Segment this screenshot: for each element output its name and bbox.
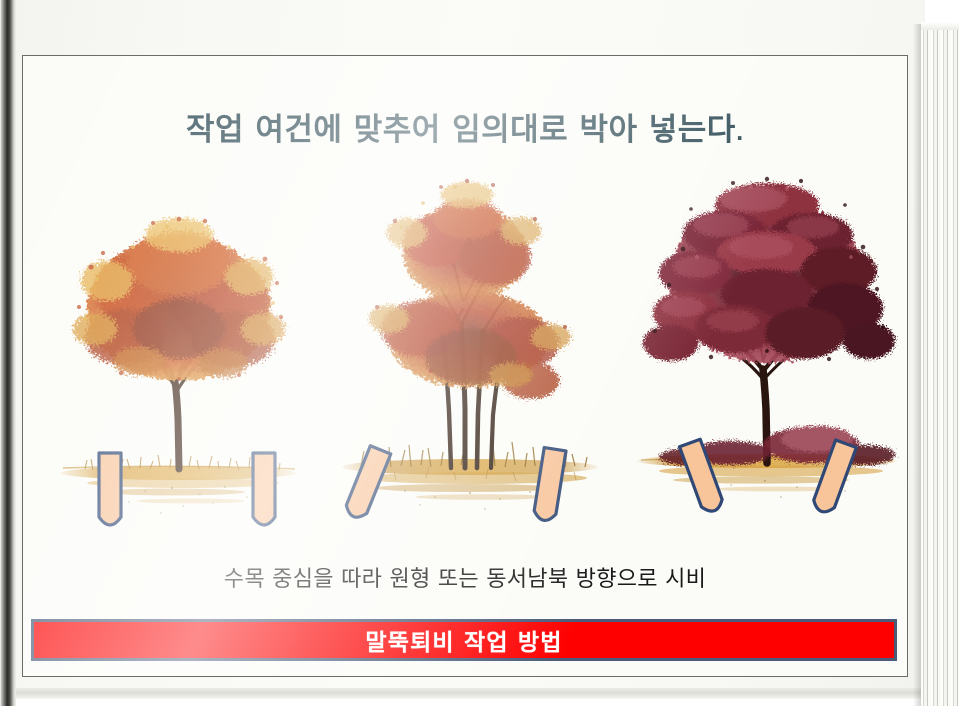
page-title-text: 작업 여건에 맞추어 임의대로 박아 넣는다 (186, 112, 736, 148)
tree-panel-middle (325, 161, 615, 561)
page-title-period: . (736, 121, 744, 145)
slide-frame: 작업 여건에 맞추어 임의대로 박아 넣는다. (22, 55, 908, 677)
ground-speckles-middle (404, 490, 551, 510)
compost-stake-1 (99, 453, 121, 525)
title-banner-text: 말뚝퇴비 작업 방법 (365, 623, 562, 657)
illustration-band (29, 161, 903, 561)
illustration-caption: 수목 중심을 따라 원형 또는 동서남북 방향으로 시비 (23, 561, 907, 593)
title-banner: 말뚝퇴비 작업 방법 (31, 619, 897, 661)
tree-foliage-middle (369, 179, 571, 399)
tree-foliage-right (643, 177, 895, 363)
compost-stake-2 (533, 448, 566, 523)
compost-stake-1 (343, 446, 390, 521)
compost-stake-2 (253, 453, 275, 525)
tree-foliage-left (73, 217, 285, 381)
stake-group-middle (343, 446, 566, 522)
cloud-pruned-maroon-tree-illustration (625, 161, 910, 561)
tree-panel-left (33, 161, 323, 561)
single-stem-autumn-tree-illustration (33, 161, 323, 561)
multi-stem-clump-tree-illustration (325, 161, 615, 561)
page-stack-edge (921, 30, 959, 706)
page-bottom-edge (13, 688, 925, 699)
scanned-page-canvas: 작업 여건에 맞추어 임의대로 박아 넣는다. (0, 0, 960, 720)
book-gutter-shadow (0, 0, 16, 706)
page-title: 작업 여건에 맞추어 임의대로 박아 넣는다. (23, 104, 907, 149)
tree-panel-right (625, 161, 910, 561)
